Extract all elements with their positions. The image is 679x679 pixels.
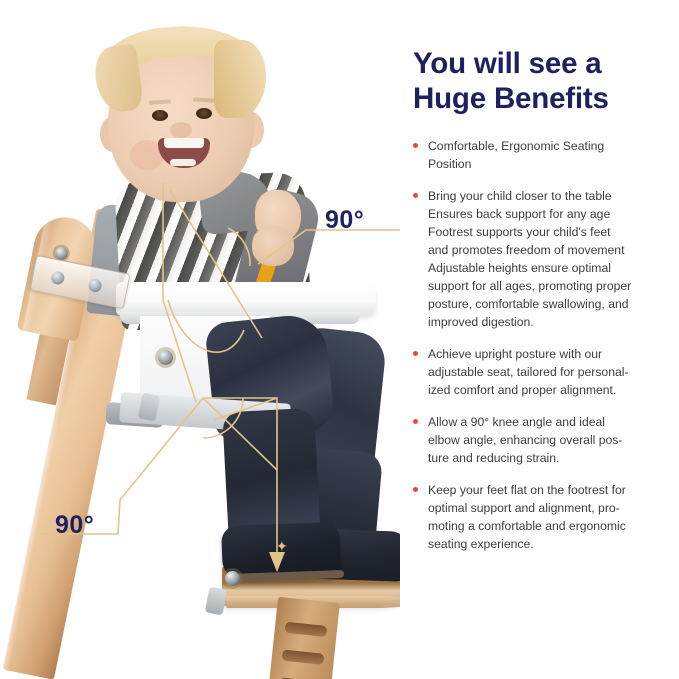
bullet-dot-icon — [413, 193, 418, 198]
list-item: Keep your feet flat on the footrest for … — [413, 481, 669, 553]
child-hand-lower — [252, 226, 294, 266]
chair-adjuster-clip — [205, 587, 228, 616]
knee-angle-label: 90° — [55, 511, 94, 540]
bracket-screw-icon — [50, 270, 65, 285]
bullet-dot-icon — [413, 143, 418, 148]
list-item: Bring your child closer to the table Ens… — [413, 187, 669, 331]
list-item: Allow a 90° knee angle and ideal elbow a… — [413, 413, 669, 467]
list-item: Achieve upright posture with our adjusta… — [413, 345, 669, 399]
footrest-notch — [284, 622, 327, 637]
bracket-screw-icon — [87, 278, 102, 293]
list-item-text: Allow a 90° knee angle and ideal elbow a… — [428, 415, 622, 465]
list-item-text: Keep your feet flat on the footrest for … — [428, 483, 626, 551]
child-nose — [170, 122, 192, 138]
list-item: Comfortable, Ergonomic Seating Position — [413, 137, 669, 173]
footrest-notch — [282, 650, 325, 665]
page-title: You will see a Huge Benefits — [413, 46, 675, 117]
chair-footrest-support — [269, 597, 340, 679]
list-item-text: Achieve upright posture with our adjusta… — [428, 347, 629, 397]
elbow-angle-label: 90° — [325, 206, 364, 235]
list-item-text: Bring your child closer to the table Ens… — [428, 189, 631, 329]
bullet-dot-icon — [413, 351, 418, 356]
product-benefits-infographic: ✦ — [0, 0, 679, 679]
boot-star-icon: ✦ — [276, 540, 288, 552]
child-eye-right — [196, 108, 212, 119]
bullet-dot-icon — [413, 419, 418, 424]
list-item-text: Comfortable, Ergonomic Seating Position — [428, 139, 604, 171]
child-eye-left — [152, 110, 168, 121]
chair-tray — [116, 282, 376, 316]
rail-screw-icon — [158, 350, 173, 365]
benefits-panel: You will see a Huge Benefits Comfortable… — [408, 0, 679, 679]
rail-screw-icon — [225, 571, 240, 586]
child-hair-left — [92, 43, 145, 114]
bullet-dot-icon — [413, 487, 418, 492]
benefits-list: Comfortable, Ergonomic Seating Position … — [413, 137, 669, 567]
product-photo: ✦ — [0, 0, 400, 679]
child-hair-right — [214, 40, 266, 118]
